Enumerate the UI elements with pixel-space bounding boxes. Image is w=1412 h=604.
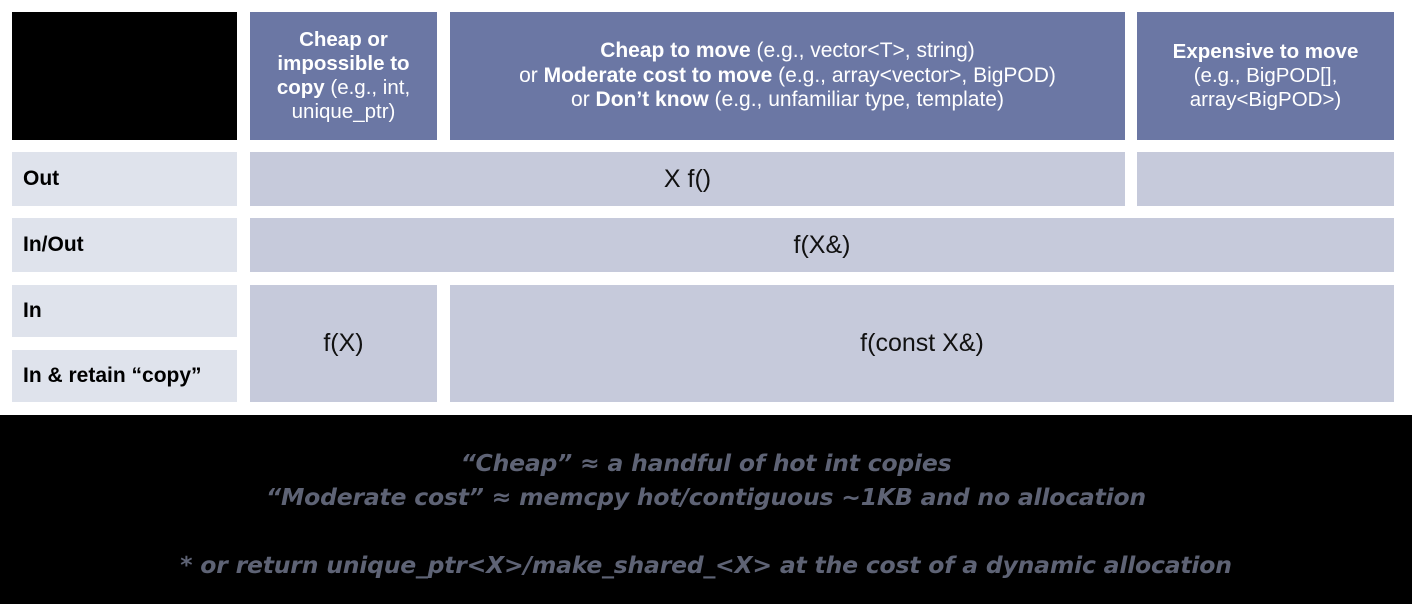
row-label-in-out: In/Out — [12, 218, 237, 272]
row-label-in-text: In — [23, 299, 42, 323]
footnote-return-unique-ptr: * or return unique_ptr<X>/make_shared_<X… — [0, 551, 1412, 579]
column-header-cheap-move-example: (e.g., vector<T>, string) — [751, 39, 975, 62]
column-header-moderate-example: (e.g., array<vector>, BigPOD) — [772, 64, 1056, 87]
row-label-in: In — [12, 285, 237, 337]
footnote-moderate-cost: “Moderate cost” ≈ memcpy hot/contiguous … — [0, 483, 1412, 511]
column-header-cheap-to-move: Cheap to move (e.g., vector<T>, string) … — [450, 12, 1125, 140]
column-header-moderate-bold: Moderate cost to move — [544, 64, 773, 87]
slide-root: Cheap or impossible to copy (e.g., int, … — [0, 0, 1412, 604]
row-label-out-text: Out — [23, 167, 59, 191]
cell-in-f-x-text: f(X) — [323, 329, 363, 358]
row-label-in-out-text: In/Out — [23, 233, 84, 257]
column-header-expensive-to-move: Expensive to move (e.g., BigPOD[], array… — [1137, 12, 1394, 140]
column-header-dontknow-bold: Don’t know — [596, 88, 709, 111]
footnote-cheap: “Cheap” ≈ a handful of hot int copies — [0, 449, 1412, 477]
row-label-in-retain-text: In & retain “copy” — [23, 364, 202, 388]
cell-in-f-x: f(X) — [250, 285, 437, 402]
column-header-expensive-example-line1: (e.g., BigPOD[], — [1173, 64, 1359, 88]
cell-out-expensive-empty — [1137, 152, 1394, 206]
column-header-cheap-or-impossible-to-copy: Cheap or impossible to copy (e.g., int, … — [250, 12, 437, 140]
cell-out-x-f-text: X f() — [664, 165, 711, 194]
cell-in-f-const-xref: f(const X&) — [450, 285, 1394, 402]
column-header-expensive-example-line2: array<BigPOD>) — [1173, 88, 1359, 112]
cell-out-x-f: X f() — [250, 152, 1125, 206]
column-header-cheap-move-bold: Cheap to move — [600, 39, 751, 62]
cell-in-out-f-xref-text: f(X&) — [794, 231, 851, 260]
table-corner-block — [12, 12, 237, 140]
cell-in-out-f-xref: f(X&) — [250, 218, 1394, 272]
row-label-out: Out — [12, 152, 237, 206]
column-header-dontknow-prefix: or — [571, 88, 596, 111]
column-header-dontknow-example: (e.g., unfamiliar type, template) — [709, 88, 1004, 111]
row-label-in-and-retain-copy: In & retain “copy” — [12, 350, 237, 402]
cell-in-f-const-xref-text: f(const X&) — [860, 329, 984, 358]
column-header-expensive-bold: Expensive to move — [1173, 40, 1359, 63]
column-header-moderate-prefix: or — [519, 64, 544, 87]
